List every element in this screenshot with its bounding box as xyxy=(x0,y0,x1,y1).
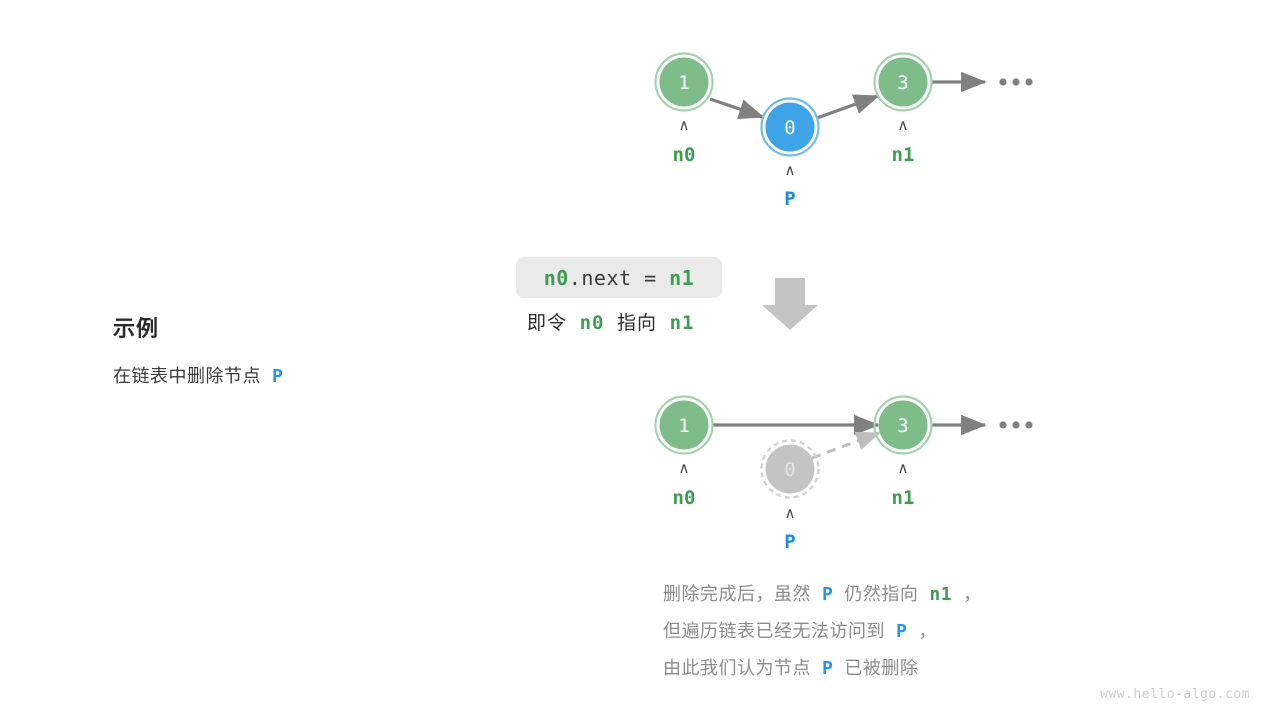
code-operator: = xyxy=(632,266,670,290)
node-n0-after[interactable]: 1 xyxy=(656,397,713,454)
code-var-n1: n1 xyxy=(669,266,694,290)
link-n0-to-p xyxy=(710,99,763,117)
caption-subtitle-text: 在链表中删除节点 xyxy=(113,366,261,386)
caret-icon: ∧ xyxy=(898,459,909,477)
tail-ellipsis-after xyxy=(999,421,1032,428)
note-line2-b: ， xyxy=(918,621,937,641)
caret-icon: ∧ xyxy=(785,504,796,522)
code-description-var-n1: n1 xyxy=(670,312,695,334)
node-n0-before[interactable]: 1 xyxy=(656,54,713,111)
caret-icon: ∧ xyxy=(898,116,909,134)
code-description: 即令 n0 指向 n1 xyxy=(527,308,695,335)
down-arrow-icon xyxy=(762,278,818,330)
code-statement: n0.next = n1 xyxy=(544,266,695,290)
code-field-next: .next xyxy=(569,266,632,290)
note-line3-a: 由此我们认为节点 xyxy=(663,658,811,678)
code-statement-pill: n0.next = n1 xyxy=(516,257,722,298)
note-line-2: 但遍历链表已经无法访问到 P ， xyxy=(663,613,982,650)
note-line1-a: 删除完成后，虽然 xyxy=(663,584,811,604)
node-value: 3 xyxy=(897,72,908,94)
node-label-n1: n1 xyxy=(892,487,915,509)
caption-subtitle: 在链表中删除节点 P xyxy=(113,364,443,389)
caret-icon: ∧ xyxy=(679,116,690,134)
deletion-note: 删除完成后，虽然 P 仍然指向 n1 ， 但遍历链表已经无法访问到 P ， 由此… xyxy=(663,576,982,687)
note-line-3: 由此我们认为节点 P 已被删除 xyxy=(663,650,982,687)
note-line1-identifier-p: P xyxy=(822,584,833,605)
site-watermark: www.hello-algo.com xyxy=(1100,687,1250,702)
caret-icon: ∧ xyxy=(785,161,796,179)
node-n1-before[interactable]: 3 xyxy=(875,54,932,111)
node-label-n0: n0 xyxy=(673,144,696,166)
tail-ellipsis-before xyxy=(999,78,1032,85)
link-p-to-n1-stale xyxy=(812,433,879,458)
node-label-p: P xyxy=(784,188,795,210)
node-value: 1 xyxy=(678,72,689,94)
link-p-to-n1 xyxy=(817,96,878,118)
diagram-before-deletion: 1 ∧ n0 0 ∧ P 3 ∧ n1 xyxy=(656,54,1033,211)
node-n1-after[interactable]: 3 xyxy=(875,397,932,454)
node-label-n1: n1 xyxy=(892,144,915,166)
note-line-1: 删除完成后，虽然 P 仍然指向 n1 ， xyxy=(663,576,982,613)
node-label-n0: n0 xyxy=(673,487,696,509)
node-p-deleted[interactable]: 0 xyxy=(762,441,819,498)
node-value: 0 xyxy=(784,117,795,139)
diagram-after-deletion: 1 ∧ n0 0 ∧ P 3 ∧ n1 xyxy=(656,397,1033,554)
note-line1-b: 仍然指向 xyxy=(844,584,918,604)
note-line2-identifier-p: P xyxy=(896,621,907,642)
node-value: 3 xyxy=(897,415,908,437)
diagram-canvas: 1 ∧ n0 0 ∧ P 3 ∧ n1 xyxy=(0,0,1280,720)
note-line2-a: 但遍历链表已经无法访问到 xyxy=(663,621,885,641)
caption-identifier-p: P xyxy=(272,366,283,387)
caption-title: 示例 xyxy=(113,315,443,344)
example-caption: 示例 在链表中删除节点 P xyxy=(113,315,443,389)
note-line1-c: ， xyxy=(963,584,982,604)
node-value: 1 xyxy=(678,415,689,437)
node-label-p: P xyxy=(784,531,795,553)
code-description-verb: 指向 xyxy=(617,313,657,334)
note-line1-identifier-n1: n1 xyxy=(929,584,952,605)
caret-icon: ∧ xyxy=(679,459,690,477)
code-var-n0: n0 xyxy=(544,266,569,290)
code-description-lead: 即令 xyxy=(527,313,567,334)
note-line3-b: 已被删除 xyxy=(844,658,918,678)
code-description-var-n0: n0 xyxy=(580,312,605,334)
note-line3-identifier-p: P xyxy=(822,658,833,679)
node-value: 0 xyxy=(784,459,795,481)
node-p-before[interactable]: 0 xyxy=(762,99,819,156)
